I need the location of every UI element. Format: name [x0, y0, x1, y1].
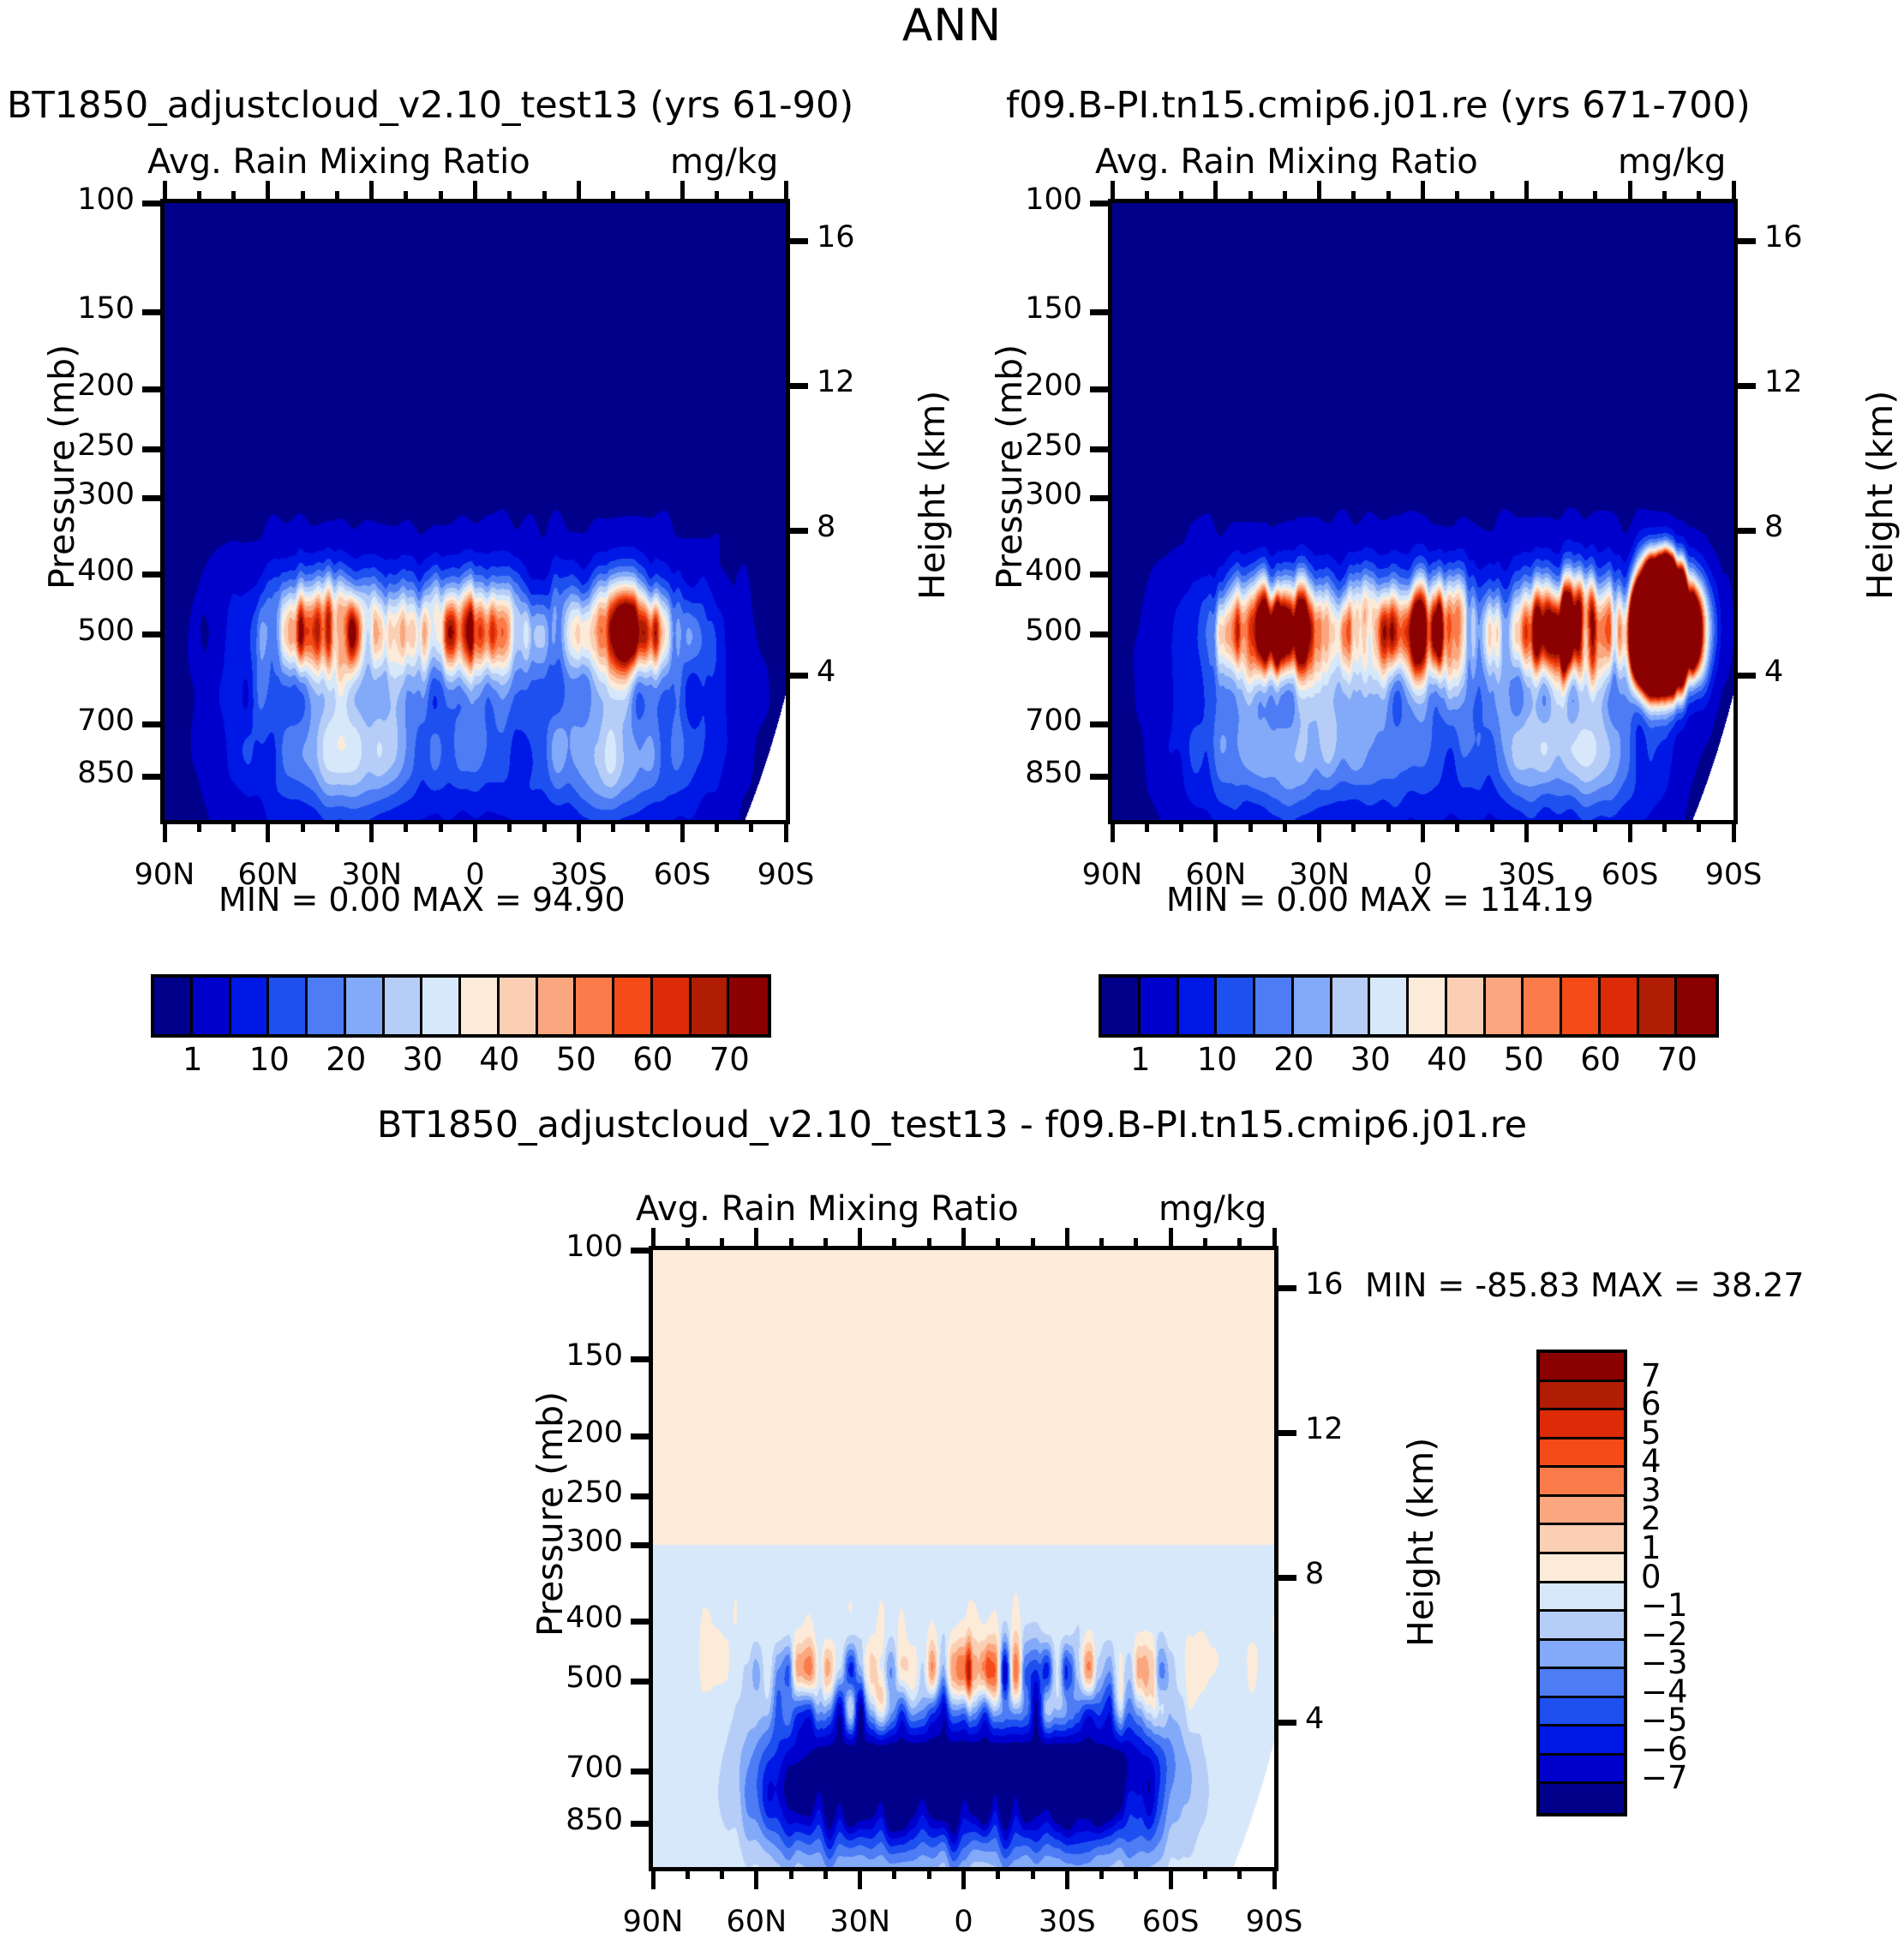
x-axis-tick — [1593, 820, 1597, 832]
x-axis-tick-top — [1455, 191, 1459, 203]
colorbar-tick-label: 70 — [1638, 1041, 1715, 1078]
y-axis-tick — [631, 1248, 653, 1254]
y-axis-tick — [631, 1768, 653, 1774]
colorbar-tick-label: 40 — [1409, 1041, 1486, 1078]
diff-panel-y2-axis-title: Height (km) — [1400, 1438, 1441, 1647]
x-axis-tick — [961, 1867, 966, 1889]
x-axis-tick — [686, 1867, 690, 1879]
x-axis-tick — [1134, 1867, 1138, 1879]
y-axis-tick-label: 700 — [533, 1750, 623, 1785]
colorbar-swatch — [231, 978, 270, 1034]
x-axis-tick-label: 30N — [1260, 858, 1380, 892]
x-axis-tick-top — [651, 1228, 656, 1250]
y-axis-tick — [142, 572, 165, 578]
x-axis-tick — [266, 820, 270, 842]
x-axis-tick-top — [1169, 1228, 1173, 1250]
x-axis-tick-label: 90N — [1052, 858, 1172, 892]
x-axis-tick-top — [1524, 181, 1529, 203]
y2-axis-tick-label: 8 — [817, 510, 835, 544]
y-axis-tick-label: 850 — [45, 756, 135, 790]
x-axis-tick — [542, 820, 547, 832]
y-axis-tick-label: 250 — [45, 428, 135, 463]
y-axis-tick-label: 400 — [992, 554, 1082, 588]
y-axis-tick-label: 100 — [992, 183, 1082, 217]
left-panel-colorbar — [151, 974, 771, 1038]
x-axis-tick — [1662, 820, 1667, 832]
colorbar-swatch — [154, 978, 193, 1034]
y-axis-tick — [631, 1356, 653, 1362]
diff-panel-colorbar — [1536, 1350, 1627, 1816]
y2-axis-tick-label: 4 — [817, 655, 835, 689]
y2-axis-tick — [786, 238, 808, 244]
left-panel-contour-plot — [160, 199, 790, 824]
x-axis-tick — [1351, 820, 1356, 832]
x-axis-tick — [1111, 820, 1115, 842]
y-axis-tick — [631, 1433, 653, 1439]
colorbar-tick-label: 1 — [1102, 1041, 1179, 1078]
colorbar-swatch — [1540, 1468, 1624, 1497]
x-axis-tick-top — [1099, 1238, 1104, 1250]
colorbar-tick-label: 30 — [1332, 1041, 1409, 1078]
x-axis-tick-top — [404, 191, 408, 203]
x-axis-tick-top — [1662, 191, 1667, 203]
x-axis-tick — [1248, 820, 1253, 832]
colorbar-swatch — [1562, 978, 1601, 1034]
x-axis-tick-top — [507, 191, 512, 203]
x-axis-tick-top — [645, 191, 650, 203]
y2-axis-tick-label: 16 — [817, 220, 855, 254]
x-axis-tick-top — [961, 1228, 966, 1250]
colorbar-swatch — [1447, 978, 1486, 1034]
colorbar-tick-label: 40 — [461, 1041, 538, 1078]
colorbar-tick-label: 1 — [154, 1041, 231, 1078]
x-axis-tick-label: 90S — [1214, 1905, 1334, 1939]
colorbar-swatch — [1639, 978, 1678, 1034]
colorbar-swatch — [1540, 1669, 1624, 1698]
right-panel-variable-label: Avg. Rain Mixing Ratio — [1095, 142, 1478, 182]
x-axis-tick — [197, 820, 201, 832]
x-axis-tick — [720, 1867, 724, 1879]
x-axis-tick — [1697, 820, 1701, 832]
colorbar-swatch — [1524, 978, 1562, 1034]
right-panel-units-label: mg/kg — [1618, 142, 1726, 182]
x-axis-tick-label: 0 — [904, 1905, 1024, 1939]
y-axis-tick-label: 200 — [533, 1415, 623, 1450]
colorbar-swatch — [538, 978, 577, 1034]
x-axis-tick — [1490, 820, 1494, 832]
x-axis-tick-top — [1283, 191, 1287, 203]
x-axis-tick — [1559, 820, 1563, 832]
x-axis-tick — [1203, 1867, 1207, 1879]
colorbar-swatch — [1217, 978, 1255, 1034]
y2-axis-tick — [1733, 383, 1756, 389]
colorbar-swatch — [1677, 978, 1715, 1034]
left-panel-title: BT1850_adjustcloud_v2.10_test13 (yrs 61-… — [7, 84, 853, 127]
x-axis-tick-top — [1179, 191, 1183, 203]
y2-axis-tick-label: 12 — [1764, 365, 1803, 399]
x-axis-tick-top — [996, 1238, 1000, 1250]
x-axis-tick — [1455, 820, 1459, 832]
diff-panel-contour-canvas — [653, 1250, 1274, 1867]
x-axis-tick — [611, 820, 615, 832]
x-axis-tick-top — [1421, 181, 1425, 203]
x-axis-tick-label: 30N — [800, 1905, 920, 1939]
colorbar-swatch — [1409, 978, 1447, 1034]
colorbar-swatch — [1370, 978, 1409, 1034]
x-axis-tick-top — [720, 1238, 724, 1250]
x-axis-tick-top — [197, 191, 201, 203]
y-axis-tick-label: 300 — [992, 477, 1082, 512]
y-axis-tick-label: 500 — [45, 613, 135, 648]
colorbar-tick-label: 70 — [691, 1041, 768, 1078]
x-axis-tick-top — [266, 181, 270, 203]
x-axis-tick — [1732, 820, 1736, 842]
y-axis-tick-label: 250 — [533, 1475, 623, 1510]
x-axis-tick-label: 30S — [1466, 858, 1586, 892]
x-axis-tick-top — [858, 1228, 862, 1250]
x-axis-tick-label: 90S — [726, 858, 846, 892]
x-axis-tick-label: 60N — [697, 1905, 817, 1939]
colorbar-swatch — [1540, 1439, 1624, 1469]
x-axis-tick — [754, 1867, 758, 1889]
x-axis-tick-top — [1317, 181, 1321, 203]
x-axis-tick-label: 30S — [518, 858, 638, 892]
x-axis-tick-label: 90N — [105, 858, 225, 892]
x-axis-tick — [231, 820, 236, 832]
y2-axis-tick — [1274, 1575, 1296, 1581]
colorbar-swatch — [1540, 1727, 1624, 1756]
colorbar-swatch — [1540, 1554, 1624, 1583]
colorbar-swatch — [1540, 1756, 1624, 1785]
x-axis-tick-top — [1490, 191, 1494, 203]
colorbar-swatch — [346, 978, 385, 1034]
y-axis-tick-label: 850 — [533, 1803, 623, 1837]
y-axis-tick — [1090, 572, 1112, 578]
colorbar-tick-label: 50 — [1485, 1041, 1562, 1078]
colorbar-swatch — [500, 978, 538, 1034]
x-axis-tick — [335, 820, 339, 832]
x-axis-tick-top — [1386, 191, 1391, 203]
x-axis-tick-top — [439, 191, 443, 203]
x-axis-tick — [1386, 820, 1391, 832]
left-panel-y2-axis-title: Height (km) — [912, 391, 953, 600]
diff-panel-variable-label: Avg. Rain Mixing Ratio — [636, 1189, 1019, 1229]
x-axis-tick-top — [369, 181, 374, 203]
x-axis-tick — [1099, 1867, 1104, 1879]
x-axis-tick-top — [1248, 191, 1253, 203]
diff-panel-contour-plot — [649, 1246, 1278, 1871]
y-axis-tick-label: 300 — [533, 1524, 623, 1559]
x-axis-tick-top — [1351, 191, 1356, 203]
x-axis-tick — [1237, 1867, 1242, 1879]
colorbar-swatch — [1540, 1382, 1624, 1411]
diff-panel-units-label: mg/kg — [1159, 1189, 1266, 1229]
x-axis-tick — [301, 820, 305, 832]
colorbar-swatch — [269, 978, 308, 1034]
x-axis-tick-top — [749, 191, 753, 203]
x-axis-tick — [789, 1867, 793, 1879]
y-axis-tick — [631, 1619, 653, 1625]
colorbar-swatch — [308, 978, 346, 1034]
x-axis-tick — [1169, 1867, 1173, 1889]
x-axis-tick-label: 0 — [416, 858, 536, 892]
x-axis-tick-top — [823, 1238, 828, 1250]
x-axis-tick — [1065, 1867, 1069, 1889]
y-axis-tick — [1090, 446, 1112, 452]
y-axis-tick-label: 300 — [45, 477, 135, 512]
y-axis-tick — [142, 495, 165, 501]
y-axis-tick — [142, 309, 165, 315]
y-axis-tick-label: 150 — [533, 1338, 623, 1373]
x-axis-tick — [369, 820, 374, 842]
y-axis-tick — [631, 1493, 653, 1499]
y-axis-tick — [1090, 495, 1112, 501]
x-axis-tick-top — [1732, 181, 1736, 203]
colorbar-swatch — [1179, 978, 1218, 1034]
colorbar-tick-label: 50 — [537, 1041, 614, 1078]
y2-axis-tick — [1274, 1430, 1296, 1436]
colorbar-swatch — [1540, 1410, 1624, 1439]
colorbar-swatch — [1294, 978, 1332, 1034]
colorbar-swatch — [614, 978, 653, 1034]
y2-axis-tick-label: 16 — [1764, 220, 1803, 254]
x-axis-tick-label: 60S — [1570, 858, 1690, 892]
y-axis-tick-label: 250 — [992, 428, 1082, 463]
x-axis-tick — [645, 820, 650, 832]
y2-axis-tick-label: 8 — [1764, 510, 1783, 544]
x-axis-tick — [404, 820, 408, 832]
x-axis-tick-top — [1031, 1238, 1035, 1250]
y-axis-tick — [1090, 309, 1112, 315]
y2-axis-tick — [786, 673, 808, 679]
colorbar-swatch — [1486, 978, 1524, 1034]
y-axis-tick — [1090, 386, 1112, 392]
y-axis-tick — [142, 631, 165, 637]
colorbar-swatch — [422, 978, 461, 1034]
x-axis-tick-top — [1272, 1228, 1277, 1250]
y2-axis-tick-label: 8 — [1305, 1557, 1324, 1591]
colorbar-swatch — [692, 978, 730, 1034]
x-axis-tick-top — [715, 191, 719, 203]
x-axis-tick-label: 60S — [1111, 1905, 1230, 1939]
colorbar-swatch — [1540, 1353, 1624, 1382]
y-axis-tick — [631, 1679, 653, 1685]
x-axis-tick-label: 90N — [593, 1905, 713, 1939]
x-axis-tick-label: 30S — [1007, 1905, 1127, 1939]
colorbar-tick-label: 20 — [308, 1041, 385, 1078]
x-axis-tick-label: 60N — [1156, 858, 1276, 892]
right-panel-contour-canvas — [1112, 203, 1733, 820]
x-axis-tick-top — [892, 1238, 896, 1250]
x-axis-tick-top — [1593, 191, 1597, 203]
x-axis-tick — [1421, 820, 1425, 842]
x-axis-tick — [858, 1867, 862, 1889]
y2-axis-tick — [1733, 528, 1756, 534]
colorbar-swatch — [1540, 1525, 1624, 1554]
x-axis-tick-top — [1203, 1238, 1207, 1250]
x-axis-tick — [1283, 820, 1287, 832]
colorbar-swatch — [576, 978, 614, 1034]
x-axis-tick — [823, 1867, 828, 1879]
x-axis-tick-top — [542, 191, 547, 203]
colorbar-swatch — [1540, 1698, 1624, 1727]
right-panel-y2-axis-title: Height (km) — [1859, 391, 1901, 600]
x-axis-tick-top — [231, 191, 236, 203]
y-axis-tick-label: 400 — [45, 554, 135, 588]
x-axis-tick-top — [1559, 191, 1563, 203]
y-axis-tick-label: 100 — [45, 183, 135, 217]
x-axis-tick-label: 60N — [208, 858, 328, 892]
x-axis-tick — [651, 1867, 656, 1889]
y-axis-tick — [1090, 631, 1112, 637]
x-axis-tick — [1524, 820, 1529, 842]
x-axis-tick-top — [577, 181, 581, 203]
y2-axis-tick — [1274, 1720, 1296, 1726]
x-axis-tick-top — [754, 1228, 758, 1250]
x-axis-tick — [1628, 820, 1632, 842]
x-axis-tick — [715, 820, 719, 832]
colorbar-swatch — [1540, 1641, 1624, 1670]
x-axis-tick-top — [680, 181, 685, 203]
x-axis-tick-label: 30N — [312, 858, 432, 892]
x-axis-tick — [1031, 1867, 1035, 1879]
y2-axis-tick — [786, 528, 808, 534]
x-axis-tick — [680, 820, 685, 842]
right-panel-contour-plot — [1108, 199, 1738, 824]
y-axis-tick — [142, 386, 165, 392]
colorbar-swatch — [1540, 1784, 1624, 1813]
x-axis-tick — [927, 1867, 931, 1879]
colorbar-tick-label: 60 — [614, 1041, 692, 1078]
y-axis-tick — [142, 774, 165, 780]
left-panel-units-label: mg/kg — [670, 142, 778, 182]
y2-axis-tick-label: 4 — [1305, 1702, 1324, 1736]
y-axis-tick — [1090, 200, 1112, 206]
y-axis-tick — [631, 1821, 653, 1827]
x-axis-tick-top — [1213, 181, 1218, 203]
y-axis-tick — [142, 446, 165, 452]
x-axis-tick-label: 90S — [1673, 858, 1793, 892]
y-axis-tick-label: 850 — [992, 756, 1082, 790]
x-axis-tick — [1317, 820, 1321, 842]
right-panel-colorbar — [1099, 974, 1719, 1038]
x-axis-tick — [1272, 1867, 1277, 1889]
x-axis-tick — [577, 820, 581, 842]
x-axis-tick-top — [163, 181, 167, 203]
colorbar-swatch — [385, 978, 423, 1034]
colorbar-swatch — [461, 978, 500, 1034]
y-axis-tick-label: 200 — [45, 368, 135, 403]
x-axis-tick-label: 0 — [1363, 858, 1483, 892]
x-axis-tick — [1213, 820, 1218, 842]
y-axis-tick-label: 100 — [533, 1230, 623, 1264]
colorbar-tick-label: 10 — [1178, 1041, 1255, 1078]
colorbar-swatch — [1102, 978, 1141, 1034]
colorbar-swatch — [1255, 978, 1294, 1034]
colorbar-swatch — [1601, 978, 1639, 1034]
x-axis-tick-top — [335, 191, 339, 203]
y2-axis-tick — [1733, 673, 1756, 679]
x-axis-tick-top — [1134, 1238, 1138, 1250]
y-axis-tick-label: 700 — [992, 703, 1082, 738]
x-axis-tick-top — [686, 1238, 690, 1250]
y2-axis-tick — [1274, 1285, 1296, 1291]
x-axis-tick-top — [1111, 181, 1115, 203]
x-axis-tick — [784, 820, 788, 842]
x-axis-tick-top — [784, 181, 788, 203]
colorbar-swatch — [729, 978, 768, 1034]
x-axis-tick-top — [473, 181, 477, 203]
x-axis-tick — [996, 1867, 1000, 1879]
colorbar-swatch — [653, 978, 692, 1034]
colorbar-tick-label: −7 — [1641, 1759, 1688, 1796]
y-axis-tick-label: 500 — [533, 1661, 623, 1695]
x-axis-tick-top — [1237, 1238, 1242, 1250]
colorbar-swatch — [193, 978, 231, 1034]
x-axis-tick — [439, 820, 443, 832]
x-axis-tick-top — [789, 1238, 793, 1250]
y2-axis-tick-label: 12 — [1305, 1412, 1344, 1446]
diff-panel-title: BT1850_adjustcloud_v2.10_test13 - f09.B-… — [0, 1104, 1904, 1146]
y2-axis-tick-label: 4 — [1764, 655, 1783, 689]
y2-axis-tick-label: 16 — [1305, 1267, 1344, 1302]
y-axis-tick — [142, 721, 165, 727]
y-axis-tick — [1090, 721, 1112, 727]
x-axis-tick-top — [1628, 181, 1632, 203]
colorbar-swatch — [1332, 978, 1371, 1034]
left-panel-variable-label: Avg. Rain Mixing Ratio — [147, 142, 530, 182]
colorbar-tick-label: 20 — [1255, 1041, 1332, 1078]
y-axis-tick-label: 150 — [45, 291, 135, 326]
x-axis-tick-top — [1697, 191, 1701, 203]
x-axis-tick-label: 60S — [622, 858, 742, 892]
y-axis-tick-label: 400 — [533, 1601, 623, 1635]
colorbar-tick-label: 30 — [384, 1041, 461, 1078]
y-axis-tick-label: 700 — [45, 703, 135, 738]
y2-axis-tick — [786, 383, 808, 389]
y-axis-tick — [142, 200, 165, 206]
diff-panel-minmax: MIN = -85.83 MAX = 38.27 — [1365, 1266, 1805, 1304]
colorbar-tick-label: 10 — [231, 1041, 308, 1078]
x-axis-tick — [892, 1867, 896, 1879]
y2-axis-tick-label: 12 — [817, 365, 855, 399]
x-axis-tick — [163, 820, 167, 842]
x-axis-tick-top — [611, 191, 615, 203]
y-axis-tick — [1090, 774, 1112, 780]
colorbar-swatch — [1540, 1583, 1624, 1613]
colorbar-swatch — [1141, 978, 1179, 1034]
y-axis-tick-label: 150 — [992, 291, 1082, 326]
x-axis-tick — [507, 820, 512, 832]
x-axis-tick — [1145, 820, 1149, 832]
x-axis-tick — [749, 820, 753, 832]
x-axis-tick — [473, 820, 477, 842]
x-axis-tick — [1179, 820, 1183, 832]
x-axis-tick-top — [301, 191, 305, 203]
colorbar-tick-label: 60 — [1562, 1041, 1639, 1078]
x-axis-tick-top — [1145, 191, 1149, 203]
figure-main-title: ANN — [0, 0, 1904, 51]
x-axis-tick-top — [927, 1238, 931, 1250]
y-axis-tick-label: 200 — [992, 368, 1082, 403]
colorbar-swatch — [1540, 1497, 1624, 1526]
colorbar-swatch — [1540, 1612, 1624, 1641]
y2-axis-tick — [1733, 238, 1756, 244]
y-axis-tick-label: 500 — [992, 613, 1082, 648]
x-axis-tick-top — [1065, 1228, 1069, 1250]
right-panel-title: f09.B-PI.tn15.cmip6.j01.re (yrs 671-700) — [1006, 84, 1751, 127]
left-panel-contour-canvas — [165, 203, 786, 820]
